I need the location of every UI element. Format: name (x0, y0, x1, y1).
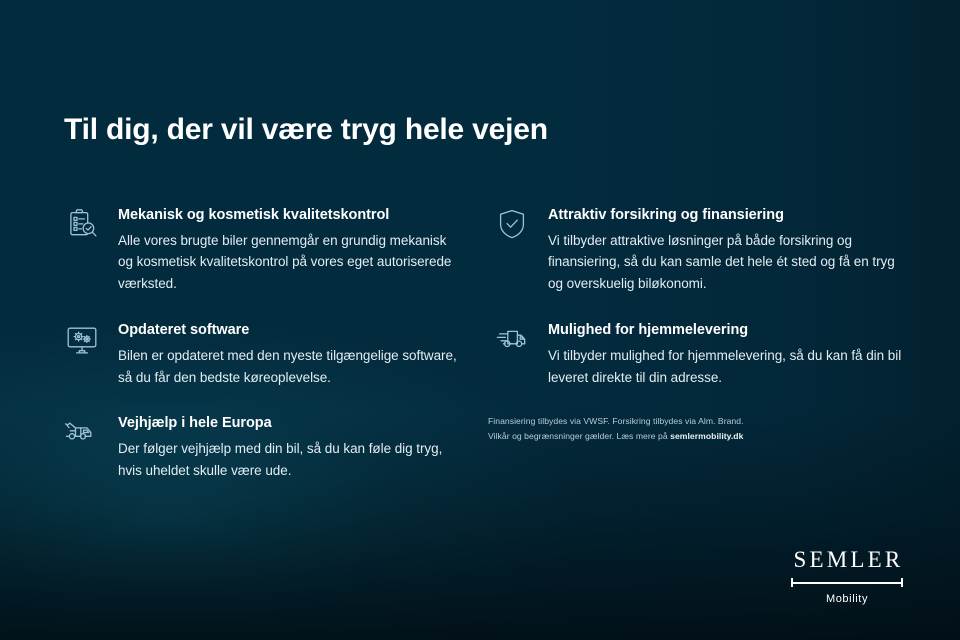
clipboard-magnifier-icon (62, 208, 102, 248)
logo-subtitle: Mobility (788, 593, 906, 605)
legal-disclaimer: Finansiering tilbydes via VWSF. Forsikri… (488, 414, 828, 444)
delivery-truck-icon (492, 323, 532, 363)
page-title: Til dig, der vil være tryg hele vejen (64, 112, 548, 148)
feature-title: Mulighed for hjemmelevering (548, 321, 908, 341)
feature-title: Opdateret software (118, 321, 458, 341)
disclaimer-line-1: Finansiering tilbydes via VWSF. Forsikri… (488, 414, 828, 429)
feature-title: Mekanisk og kosmetisk kvalitetskontrol (118, 206, 458, 226)
tow-truck-icon (62, 416, 102, 456)
shield-check-icon (492, 208, 532, 248)
logo-divider (791, 578, 903, 587)
disclaimer-line-2: Vilkår og begrænsninger gælder. Læs mere… (488, 429, 828, 444)
feature-body: Der følger vejhjælp med din bil, så du k… (118, 438, 458, 482)
feature-body: Vi tilbyder mulighed for hjemmelevering,… (548, 345, 908, 389)
feature-item-updated-software: Opdateret software Bilen er opdateret me… (58, 321, 458, 388)
feature-title: Vejhjælp i hele Europa (118, 414, 458, 434)
feature-item-insurance-financing: Attraktiv forsikring og finansiering Vi … (488, 206, 908, 295)
feature-body: Alle vores brugte biler gennemgår en gru… (118, 230, 458, 296)
feature-column-left: Mekanisk og kosmetisk kvalitetskontrol A… (58, 206, 458, 508)
feature-body: Bilen er opdateret med den nyeste tilgæn… (118, 345, 458, 389)
feature-body: Vi tilbyder attraktive løsninger på både… (548, 230, 908, 296)
disclaimer-line-2-text: Vilkår og begrænsninger gælder. Læs mere… (488, 431, 670, 441)
monitor-gears-icon (62, 323, 102, 363)
logo-divider-cap-right (901, 578, 903, 587)
slide-root: Til dig, der vil være tryg hele vejen (0, 0, 960, 640)
feature-item-quality-control: Mekanisk og kosmetisk kvalitetskontrol A… (58, 206, 458, 295)
feature-title: Attraktiv forsikring og finansiering (548, 206, 908, 226)
logo-divider-bar (791, 582, 903, 584)
semler-mobility-logo: SEMLER Mobility (788, 548, 906, 605)
disclaimer-website-link[interactable]: semlermobility.dk (670, 431, 743, 441)
logo-wordmark: SEMLER (788, 548, 906, 571)
feature-column-right: Attraktiv forsikring og finansiering Vi … (488, 206, 908, 444)
feature-item-roadside-assistance: Vejhjælp i hele Europa Der følger vejhjæ… (58, 414, 458, 481)
feature-item-home-delivery: Mulighed for hjemmelevering Vi tilbyder … (488, 321, 908, 388)
